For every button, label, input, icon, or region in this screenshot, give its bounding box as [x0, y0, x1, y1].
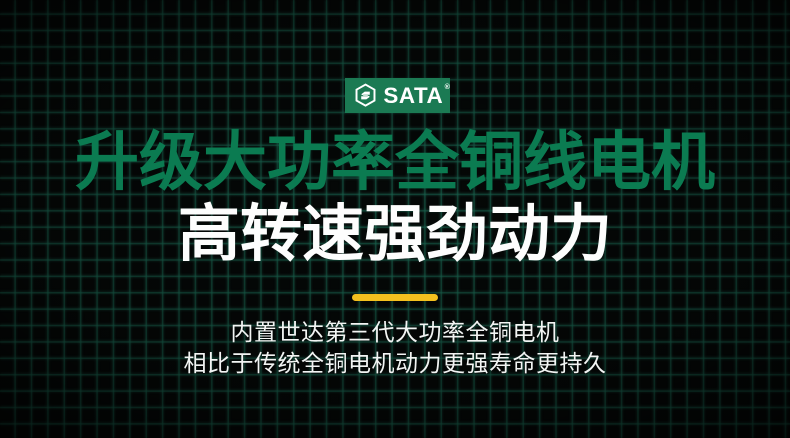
subtitle-line-1: 内置世达第三代大功率全铜电机 — [0, 318, 790, 349]
gold-divider-bar — [352, 294, 438, 301]
subtitle-line-2: 相比于传统全铜电机动力更强寿命更持久 — [0, 349, 790, 380]
headline-secondary: 高转速强劲动力 — [0, 203, 790, 265]
brand-name-text: SATA — [383, 83, 443, 108]
headline-primary: 升级大功率全铜线电机 — [0, 131, 790, 195]
divider-container — [0, 294, 790, 301]
subtitle-block: 内置世达第三代大功率全铜电机 相比于传统全铜电机动力更强寿命更持久 — [0, 318, 790, 380]
promo-banner: SATA ® 升级大功率全铜线电机 高转速强劲动力 内置世达第三代大功率全铜电机… — [0, 0, 790, 438]
brand-wordmark: SATA ® — [383, 85, 443, 107]
hexagon-s-icon — [353, 83, 378, 108]
brand-logo: SATA ® — [345, 78, 450, 113]
registered-trademark-symbol: ® — [444, 84, 450, 91]
banner-content: SATA ® 升级大功率全铜线电机 高转速强劲动力 内置世达第三代大功率全铜电机… — [0, 0, 790, 438]
